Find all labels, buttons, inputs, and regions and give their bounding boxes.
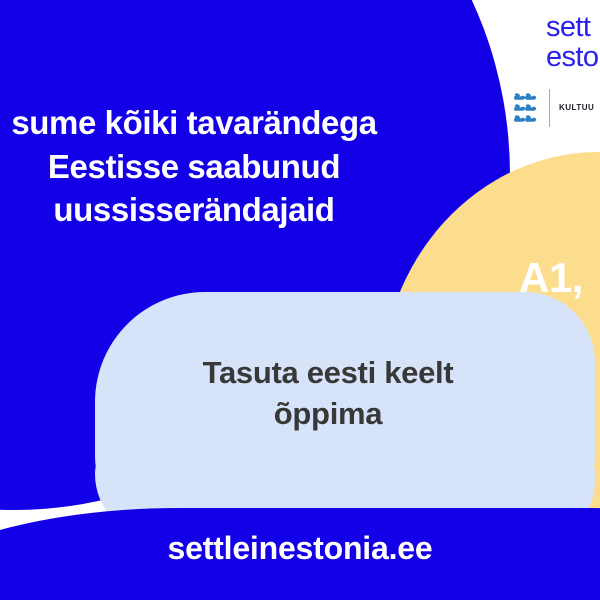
headline-line-1: sume kõiki tavarändega [0, 101, 434, 145]
website-url[interactable]: settleinestonia.ee [0, 530, 600, 567]
logo-lockup: sett esto [512, 12, 600, 127]
headline: sume kõiki tavarändega Eestisse saabunud… [0, 101, 434, 232]
logo-divider [549, 89, 550, 127]
brand-wordmark: sett esto [546, 12, 600, 73]
brand-wordmark-line-1: sett [546, 12, 600, 42]
card-message-line-1: Tasuta eesti keelt [118, 352, 538, 393]
partner-ministry-name: KULTUU [559, 103, 600, 112]
language-level-badge: A1, [519, 254, 583, 302]
card-message: Tasuta eesti keelt õppima [118, 352, 538, 434]
promo-banner: sume kõiki tavarändega Eestisse saabunud… [0, 0, 600, 600]
headline-line-2: Eestisse saabunud [0, 145, 434, 189]
card-message-line-2: õppima [118, 393, 538, 434]
headline-line-3: uussisserändajaid [0, 188, 434, 232]
estonian-coat-of-arms-icon [512, 91, 538, 125]
brand-wordmark-line-2: esto [546, 42, 600, 72]
partner-logo-row: KULTUU [512, 89, 600, 127]
